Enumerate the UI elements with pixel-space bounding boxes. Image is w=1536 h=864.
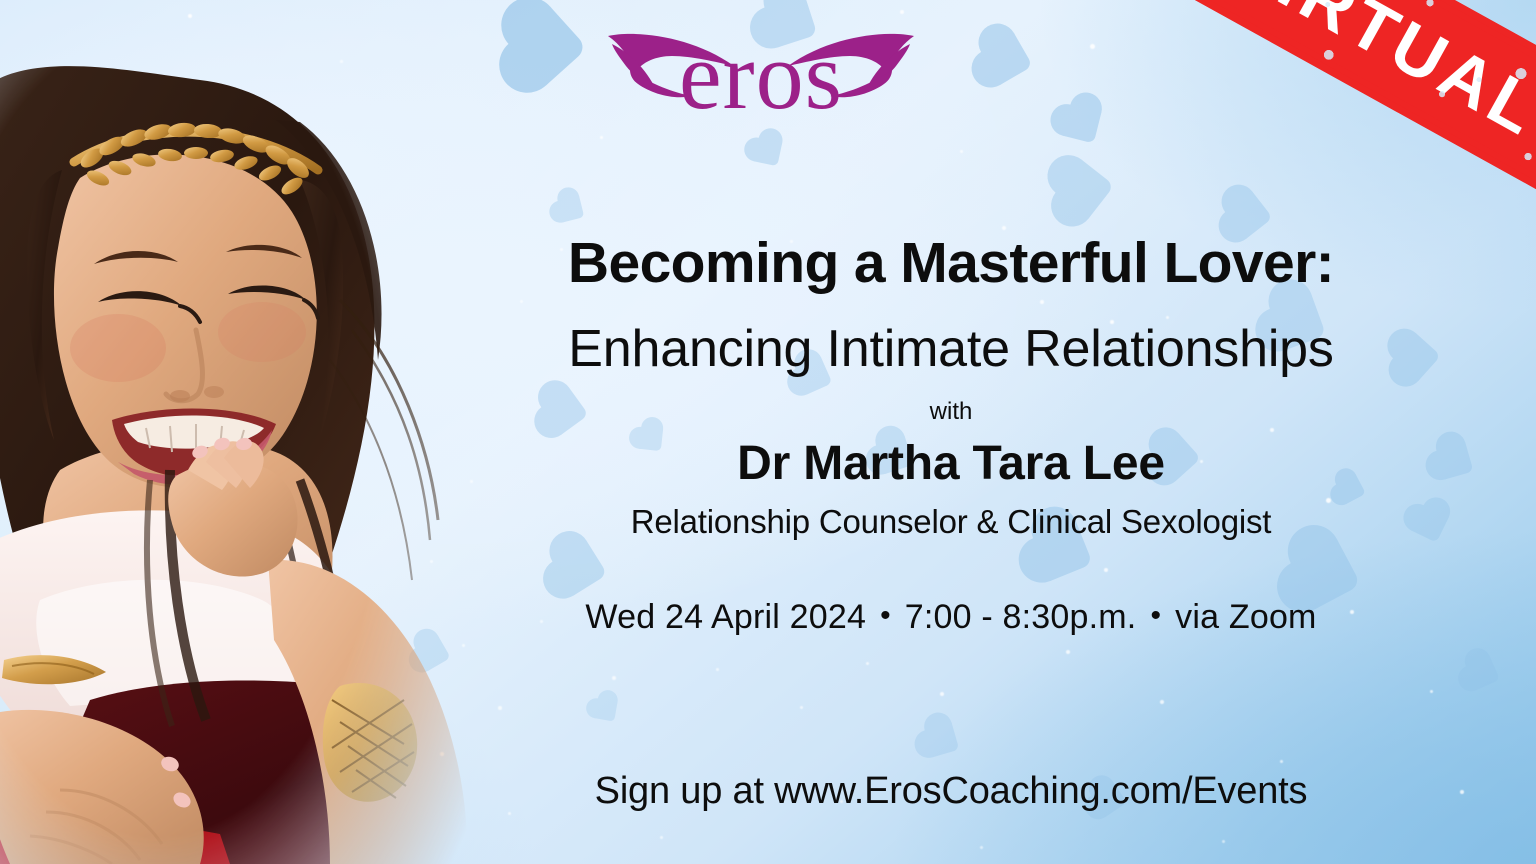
page-subtitle: Enhancing Intimate Relationships — [406, 322, 1496, 377]
event-date: Wed 24 April 2024 — [585, 598, 866, 636]
speaker-name: Dr Martha Tara Lee — [406, 436, 1496, 491]
signup-call-to-action[interactable]: Sign up at www.ErosCoaching.com/Events — [406, 770, 1496, 813]
event-platform: via Zoom — [1175, 598, 1316, 636]
event-poster: eros VIRTUAL — [0, 0, 1536, 864]
with-label: with — [406, 398, 1496, 426]
event-details: Wed 24 April 2024•7:00 - 8:30p.m.•via Zo… — [406, 598, 1496, 637]
speaker-role: Relationship Counselor & Clinical Sexolo… — [406, 503, 1496, 541]
bullet-separator-icon: • — [1136, 599, 1175, 633]
event-time: 7:00 - 8:30p.m. — [905, 598, 1137, 636]
bullet-separator-icon: • — [866, 599, 905, 633]
page-title: Becoming a Masterful Lover: — [406, 234, 1496, 294]
event-text-block: Becoming a Masterful Lover: Enhancing In… — [406, 0, 1496, 864]
